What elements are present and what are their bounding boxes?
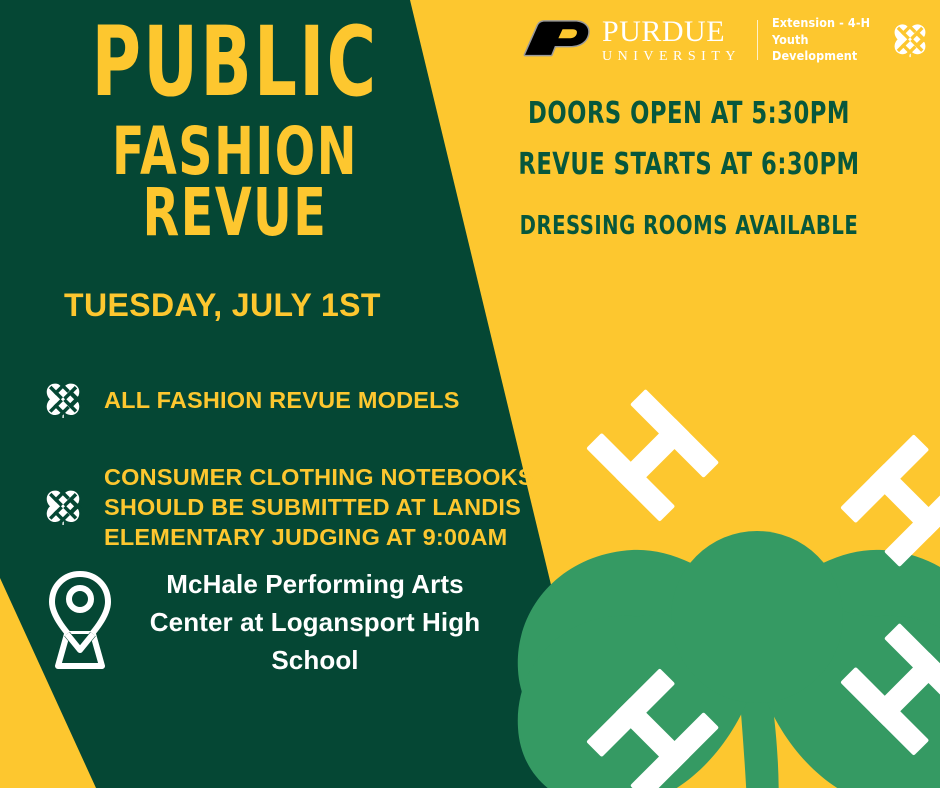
list-item-label: CONSUMER CLOTHING NOTEBOOKS SHOULD BE SU… bbox=[104, 462, 536, 552]
extension-tagline-line2: Development bbox=[772, 48, 882, 65]
four-h-clover-icon bbox=[892, 22, 928, 58]
purdue-wordmark: PURDUE UNIVERSITY bbox=[602, 17, 741, 64]
venue-address: McHale Performing Arts Center at Logansp… bbox=[130, 566, 500, 680]
extension-tagline: Extension - 4-H Youth Development bbox=[772, 15, 882, 65]
clover-letter-h bbox=[586, 389, 719, 522]
schedule-doors-open: DOORS OPEN AT 5:30PM bbox=[508, 96, 869, 131]
venue-block: McHale Performing Arts Center at Logansp… bbox=[44, 566, 500, 680]
clover-letter-h bbox=[840, 434, 940, 567]
purdue-extension-logo-lockup: PURDUE UNIVERSITY Extension - 4-H Youth … bbox=[520, 14, 928, 66]
purdue-wordmark-line2: UNIVERSITY bbox=[602, 50, 741, 64]
purdue-motion-p-icon bbox=[520, 18, 592, 62]
headline-line-fashion-revue: FASHION REVUE bbox=[47, 122, 423, 243]
four-h-clover-icon bbox=[44, 488, 82, 526]
list-item-label: ALL FASHION REVUE MODELS bbox=[104, 385, 460, 415]
list-item: CONSUMER CLOTHING NOTEBOOKS SHOULD BE SU… bbox=[44, 462, 536, 552]
schedule-dressing-rooms: DRESSING ROOMS AVAILABLE bbox=[508, 211, 869, 241]
schedule-revue-starts: REVUE STARTS AT 6:30PM bbox=[508, 147, 869, 182]
extension-tagline-line1: Extension - 4-H Youth bbox=[772, 15, 882, 49]
four-h-clover-icon bbox=[44, 381, 82, 419]
poster-headline: PUBLIC FASHION REVUE bbox=[0, 18, 470, 244]
purdue-wordmark-line1: PURDUE bbox=[602, 17, 741, 47]
headline-line-public: PUBLIC bbox=[52, 18, 419, 106]
four-h-clover-large-graphic bbox=[492, 352, 940, 788]
lockup-divider bbox=[757, 20, 758, 60]
poster-canvas: PURDUE UNIVERSITY Extension - 4-H Youth … bbox=[0, 0, 940, 788]
map-pin-icon bbox=[44, 568, 116, 672]
list-item: ALL FASHION REVUE MODELS bbox=[44, 381, 460, 419]
event-date: TUESDAY, JULY 1ST bbox=[64, 287, 381, 324]
